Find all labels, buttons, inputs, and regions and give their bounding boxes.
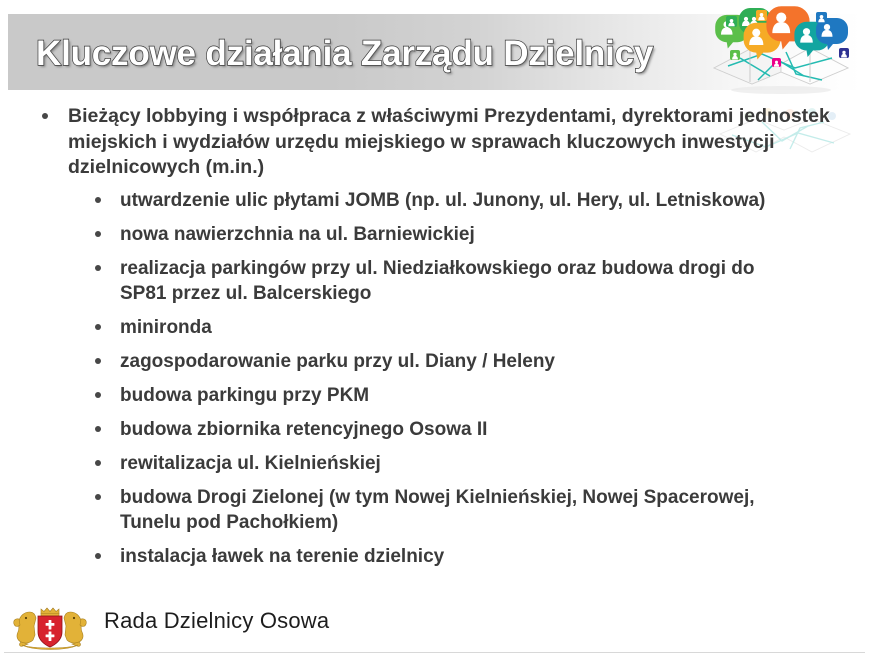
- sub-bullet-text: rewitalizacja ul. Kielnieńskiej: [120, 453, 381, 474]
- bullet-marker: [95, 324, 101, 330]
- sub-bullet: minironda: [68, 315, 851, 340]
- page-title: Kluczowe działania Zarządu Dzielnicy: [36, 26, 696, 82]
- sub-bullet: budowa Drogi Zielonej (w tym Nowej Kieln…: [68, 485, 851, 535]
- sub-bullet-text: budowa Drogi Zielonej (w tym Nowej Kieln…: [120, 487, 755, 533]
- sub-bullet-text: minironda: [120, 317, 212, 338]
- bullet-marker: [95, 494, 101, 500]
- sub-bullet-text: budowa zbiornika retencyjnego Osowa II: [120, 419, 487, 440]
- sub-bullet-text: zagospodarowanie parku przy ul. Diany / …: [120, 351, 555, 372]
- slide-canvas: Kluczowe działania Zarządu Dzielnicy: [0, 0, 869, 660]
- bullet-marker: [95, 265, 101, 271]
- bullet-marker: [95, 197, 101, 203]
- bullet-list-level2: utwardzenie ulic płytami JOMB (np. ul. J…: [68, 188, 851, 569]
- sub-bullet: nowa nawierzchnia na ul. Barniewickiej: [68, 222, 851, 247]
- sub-bullet: budowa parkingu przy PKM: [68, 383, 851, 408]
- bullet-marker: [42, 113, 48, 119]
- bullet-marker: [95, 426, 101, 432]
- sub-bullet-text: realizacja parkingów przy ul. Niedziałko…: [120, 258, 755, 304]
- bullet-marker: [95, 460, 101, 466]
- speech-bubbles-over-map-icon: [700, 2, 862, 98]
- sub-bullet: rewitalizacja ul. Kielnieńskiej: [68, 451, 851, 476]
- bullet-marker: [95, 358, 101, 364]
- sub-bullet: utwardzenie ulic płytami JOMB (np. ul. J…: [68, 188, 851, 213]
- sub-bullet: budowa zbiornika retencyjnego Osowa II: [68, 417, 851, 442]
- sub-bullet-text: nowa nawierzchnia na ul. Barniewickiej: [120, 224, 475, 245]
- sub-bullet: instalacja ławek na terenie dzielnicy: [68, 544, 851, 569]
- bullet-list-level1: Bieżący lobbying i współpraca z właściwy…: [0, 104, 869, 569]
- bullet-marker: [95, 553, 101, 559]
- sub-bullet: realizacja parkingów przy ul. Niedziałko…: [68, 256, 851, 306]
- sub-bullet-text: utwardzenie ulic płytami JOMB (np. ul. J…: [120, 190, 765, 211]
- gdansk-coat-of-arms-icon: [8, 602, 92, 652]
- main-bullet-text: Bieżący lobbying i współpraca z właściwy…: [68, 105, 830, 178]
- slide-body: Bieżący lobbying i współpraca z właściwy…: [0, 104, 869, 578]
- footer-organisation-label: Rada Dzielnicy Osowa: [104, 608, 329, 634]
- footer-divider: [4, 652, 865, 653]
- slide-footer: Rada Dzielnicy Osowa: [0, 598, 869, 660]
- sub-bullet: zagospodarowanie parku przy ul. Diany / …: [68, 349, 851, 374]
- sub-bullet-text: instalacja ławek na terenie dzielnicy: [120, 546, 444, 567]
- bullet-marker: [95, 392, 101, 398]
- bullet-marker: [95, 231, 101, 237]
- main-bullet: Bieżący lobbying i współpraca z właściwy…: [0, 104, 869, 569]
- sub-bullet-text: budowa parkingu przy PKM: [120, 385, 369, 406]
